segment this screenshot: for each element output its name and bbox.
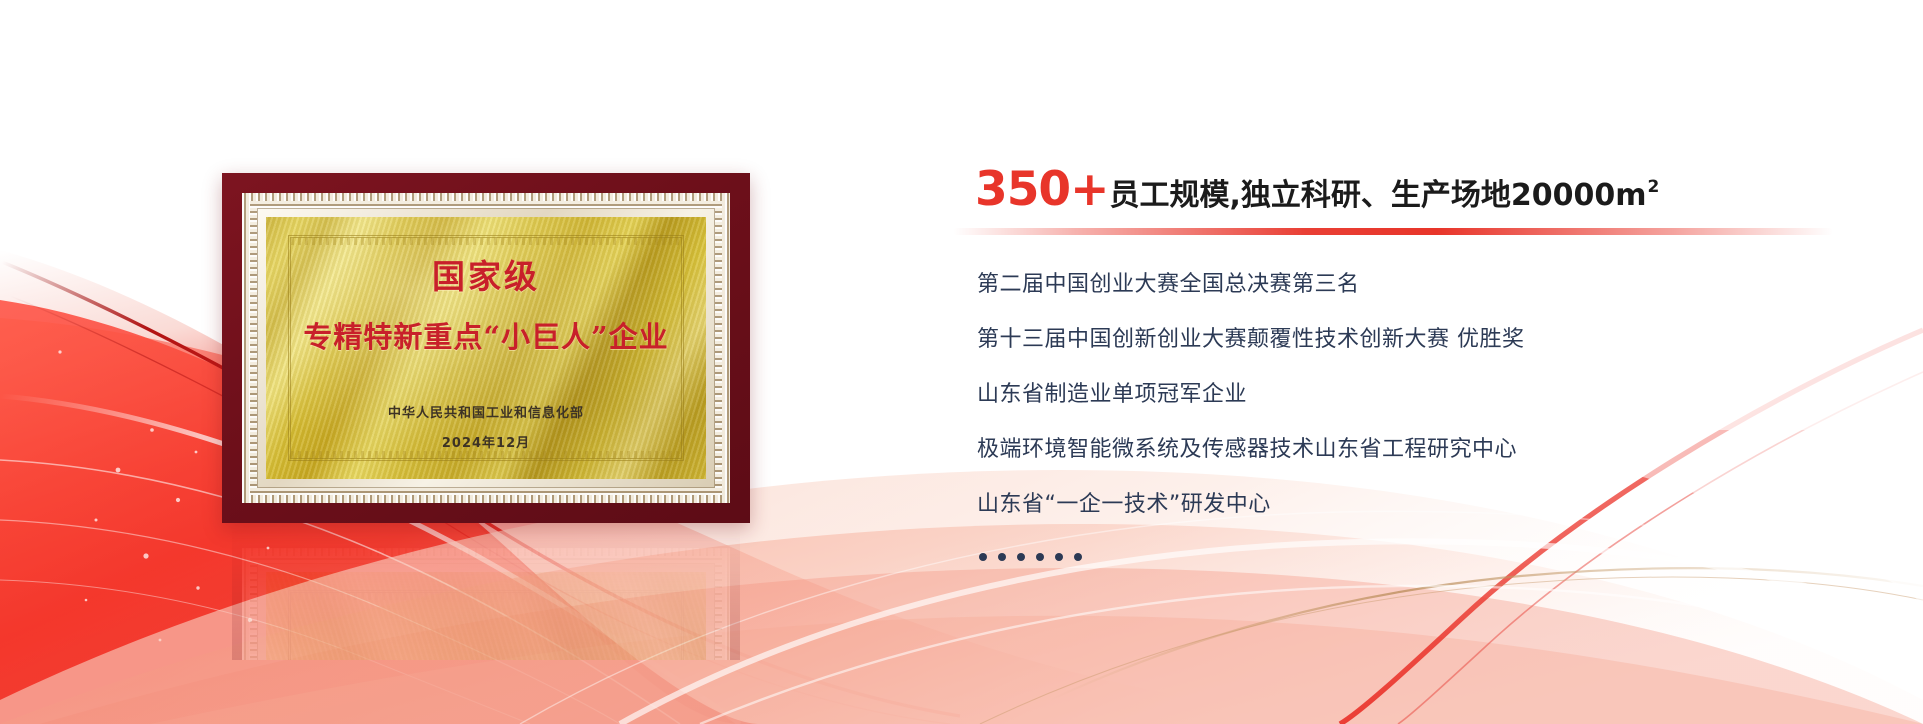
ellipsis-dot [998, 553, 1006, 561]
award-item: 极端环境智能微系统及传感器技术山东省工程研究中心 [977, 439, 1837, 494]
plaque-title-line2: 专精特新重点“小巨人”企业 [303, 314, 668, 356]
award-plaque: 国家级 专精特新重点“小巨人”企业 中华人民共和国工业和信息化部 2024年12… [222, 173, 750, 523]
plaque-date: 2024年12月 [442, 432, 530, 451]
plaque-title-line1: 国家级 [432, 250, 540, 298]
content-column: 350+员工规模,独立科研、生产场地20000m2 第二届中国创业大赛全国总决赛… [975, 0, 1875, 724]
headline-superscript: 2 [1648, 177, 1660, 197]
banner-stage: 国家级 专精特新重点“小巨人”企业 中华人民共和国工业和信息化部 2024年12… [0, 0, 1923, 724]
plaque-text-block: 国家级 专精特新重点“小巨人”企业 中华人民共和国工业和信息化部 2024年12… [266, 217, 706, 479]
headline-underline [953, 228, 1833, 235]
award-list: 第二届中国创业大赛全国总决赛第三名 第十三届中国创新创业大赛颠覆性技术创新大赛 … [977, 274, 1837, 561]
award-item: 山东省制造业单项冠军企业 [977, 384, 1837, 439]
plaque-ornament-middle: 国家级 专精特新重点“小巨人”企业 中华人民共和国工业和信息化部 2024年12… [250, 201, 722, 495]
plaque-gold-face: 国家级 专精特新重点“小巨人”企业 中华人民共和国工业和信息化部 2024年12… [266, 217, 706, 479]
plaque-ornament-inner: 国家级 专精特新重点“小巨人”企业 中华人民共和国工业和信息化部 2024年12… [257, 208, 715, 488]
headline-number: 350+ [975, 166, 1109, 213]
ellipsis-dot [1017, 553, 1025, 561]
ellipsis-dot [1036, 553, 1044, 561]
ellipsis-dot [1055, 553, 1063, 561]
ellipsis-dots [977, 553, 1837, 561]
award-item: 第十三届中国创新创业大赛颠覆性技术创新大赛 优胜奖 [977, 329, 1837, 384]
plaque-issuer: 中华人民共和国工业和信息化部 [388, 402, 584, 421]
headline: 350+员工规模,独立科研、生产场地20000m2 [975, 166, 1659, 213]
award-item: 山东省“一企一技术”研发中心 [977, 494, 1837, 549]
plaque-frame: 国家级 专精特新重点“小巨人”企业 中华人民共和国工业和信息化部 2024年12… [222, 173, 750, 523]
headline-text: 员工规模,独立科研、生产场地20000m [1110, 181, 1647, 211]
ellipsis-dot [1074, 553, 1082, 561]
award-item: 第二届中国创业大赛全国总决赛第三名 [977, 274, 1837, 329]
plaque-ornament-outer: 国家级 专精特新重点“小巨人”企业 中华人民共和国工业和信息化部 2024年12… [242, 193, 730, 503]
ellipsis-dot [979, 553, 987, 561]
